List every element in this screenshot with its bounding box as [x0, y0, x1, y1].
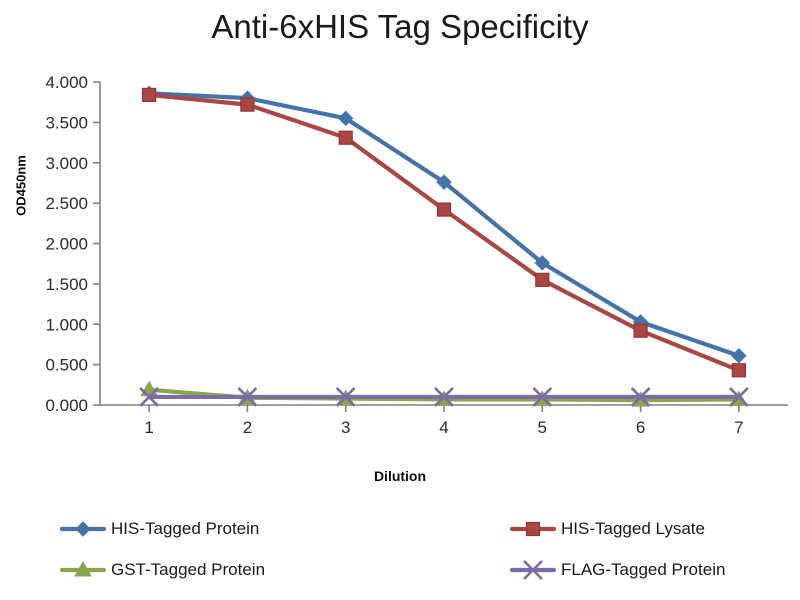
y-tick-label: 0.500	[45, 356, 88, 375]
x-tick-label: 2	[243, 418, 252, 437]
legend-item-his-tagged-lysate[interactable]: HIS-Tagged Lysate	[510, 518, 800, 540]
data-point	[241, 98, 254, 111]
x-tick-label: 3	[341, 418, 350, 437]
data-point	[438, 203, 451, 216]
legend-marker-diamond-icon	[60, 518, 106, 540]
legend-row-2: GST-Tagged Protein FLAG-Tagged Protein	[60, 549, 800, 590]
y-tick-label: 1.500	[45, 275, 88, 294]
axes-group	[100, 82, 788, 405]
x-tick-label: 7	[734, 418, 743, 437]
y-tick-label: 3.000	[45, 154, 88, 173]
y-tick-label: 2.000	[45, 235, 88, 254]
x-tick-label: 4	[439, 418, 448, 437]
y-tick-label: 1.000	[45, 315, 88, 334]
y-tick-label: 0.000	[45, 396, 88, 415]
y-tick-label: 4.000	[45, 73, 88, 92]
data-point	[143, 88, 156, 101]
series-his-tagged-protein	[142, 86, 746, 362]
chart-container: Anti-6xHIS Tag Specificity OD450nm 0.000…	[0, 0, 800, 600]
legend-marker-triangle-icon	[60, 559, 106, 581]
y-tick-group: 0.0000.5001.0001.5002.0002.5003.0003.500…	[45, 73, 100, 415]
x-tick-label: 5	[538, 418, 547, 437]
data-point	[634, 324, 647, 337]
legend-item-gst-tagged-protein[interactable]: GST-Tagged Protein	[60, 559, 510, 581]
legend-label: HIS-Tagged Protein	[111, 519, 259, 539]
data-point	[732, 364, 745, 377]
series-gst-tagged-protein	[141, 382, 747, 406]
legend-marker-x-icon	[510, 559, 556, 581]
data-point	[339, 131, 352, 144]
legend-item-his-tagged-protein[interactable]: HIS-Tagged Protein	[60, 518, 510, 540]
legend-label: HIS-Tagged Lysate	[561, 519, 705, 539]
legend-label: GST-Tagged Protein	[111, 560, 265, 580]
y-tick-label: 2.500	[45, 194, 88, 213]
legend-label: FLAG-Tagged Protein	[561, 560, 725, 580]
legend-item-flag-tagged-protein[interactable]: FLAG-Tagged Protein	[510, 559, 800, 581]
chart-legend: HIS-Tagged Protein HIS-Tagged Lysate GST…	[60, 508, 800, 590]
series-group	[140, 86, 748, 406]
legend-row-1: HIS-Tagged Protein HIS-Tagged Lysate	[60, 508, 800, 549]
data-point	[732, 349, 746, 363]
x-tick-label: 6	[636, 418, 645, 437]
series-his-tagged-lysate	[143, 88, 746, 376]
legend-marker-square-icon	[510, 518, 556, 540]
data-point	[536, 273, 549, 286]
x-tick-group: 1234567	[144, 405, 743, 437]
y-tick-label: 3.500	[45, 113, 88, 132]
x-tick-label: 1	[144, 418, 153, 437]
x-axis-title: Dilution	[0, 468, 800, 484]
